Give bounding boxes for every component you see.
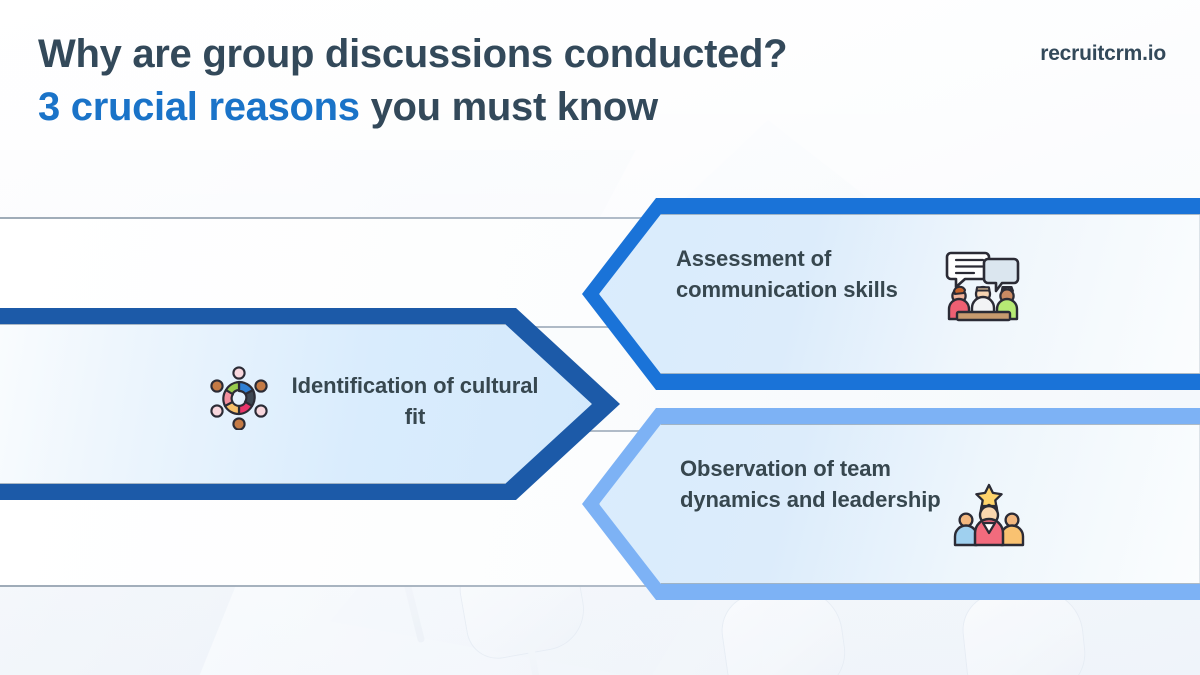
leadership-star-team-icon xyxy=(953,483,1025,549)
title-highlight: 3 crucial reasons xyxy=(38,85,360,129)
reason-label-cultural-fit: Identification of cultural fit xyxy=(290,370,540,432)
group-discussion-speech-bubbles-icon xyxy=(943,247,1023,323)
title-line-2: 3 crucial reasons you must know xyxy=(38,81,938,134)
header: Why are group discussions conducted? 3 c… xyxy=(0,0,1200,160)
reason-label-communication: Assessment of communication skills xyxy=(676,243,946,305)
teamwork-circle-people-icon xyxy=(206,366,272,430)
title-line-2-rest: you must know xyxy=(360,85,658,129)
page-title: Why are group discussions conducted? 3 c… xyxy=(38,28,938,134)
title-line-1: Why are group discussions conducted? xyxy=(38,28,938,81)
reason-label-team-dynamics: Observation of team dynamics and leaders… xyxy=(680,453,950,515)
infographic-canvas: Why are group discussions conducted? 3 c… xyxy=(0,0,1200,675)
brand-logo: recruitcrm.io xyxy=(1040,42,1166,66)
